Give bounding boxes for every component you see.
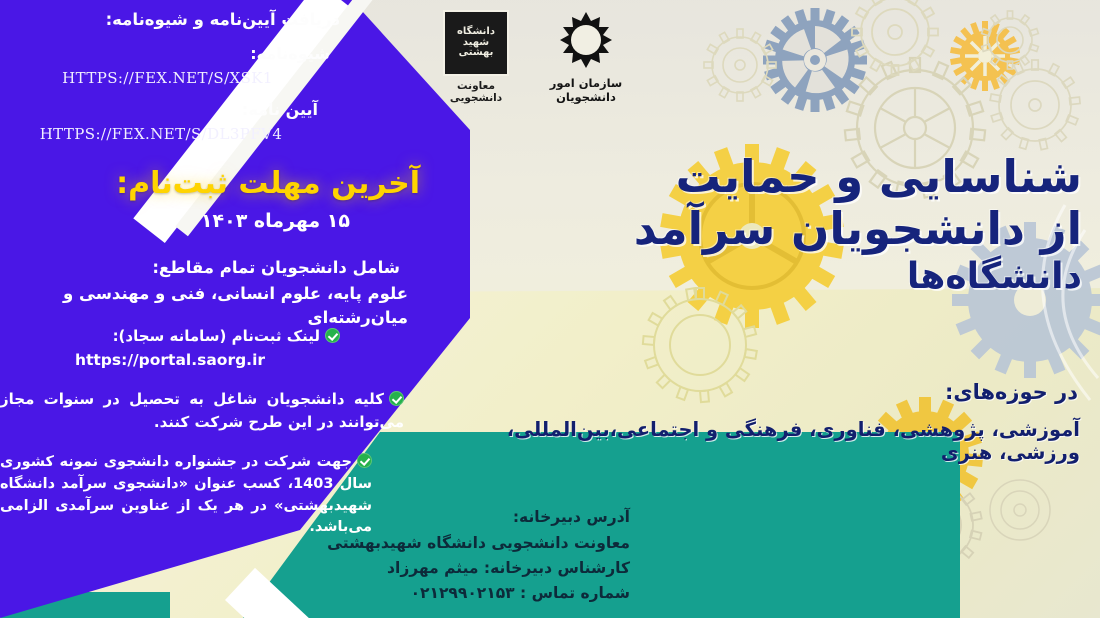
title-line-1: شناسایی و حمایت bbox=[482, 152, 1082, 202]
title-line-3: دانشگاه‌ها bbox=[482, 257, 1082, 297]
download-regulations-header: دریافت آیین‌نامه و شیوه‌نامه: bbox=[0, 8, 340, 32]
shivename-label: شیوه‌نامه: bbox=[0, 42, 330, 65]
poster-main-title: شناسایی و حمایت از دانشجویان سرآمد دانشگ… bbox=[482, 152, 1082, 297]
sbu-emblem-text: دانشگاه شهید بهشتی bbox=[445, 27, 507, 59]
fields-label: در حوزه‌های: bbox=[658, 380, 1078, 404]
shahid-beheshti-university-logo: دانشگاه شهید بهشتی معاونت دانشجویی bbox=[430, 10, 522, 104]
shivename-url-link[interactable]: HTTPS://FEX.NET/S/XSK1 bbox=[0, 68, 335, 90]
bullet-item-eligibility: کلیه دانشجویان شاغل به تحصیل در سنوات مج… bbox=[0, 388, 404, 433]
poster-root: دانشگاه شهید بهشتی معاونت دانشجویی سازما… bbox=[0, 0, 1100, 618]
includes-line-2: علوم پایه، علوم انسانی، فنی و مهندسی و م… bbox=[0, 282, 408, 330]
contact-address: معاونت دانشجویی دانشگاه شهیدبهشتی bbox=[210, 531, 630, 556]
contact-person: کارشناس دبیرخانه: میثم مهرزاد bbox=[210, 556, 630, 581]
sbu-emblem-icon: دانشگاه شهید بهشتی bbox=[443, 10, 509, 76]
org-logo-caption: سازمان امور دانشجویان bbox=[530, 76, 642, 105]
student-affairs-organization-logo: سازمان امور دانشجویان bbox=[530, 8, 642, 105]
registration-portal-link[interactable]: https://portal.saorg.ir bbox=[0, 349, 340, 372]
sbu-logo-caption: معاونت دانشجویی bbox=[430, 80, 522, 104]
deadline-title: آخرین مهلت ثبت‌نام: bbox=[0, 162, 420, 206]
check-circle-icon bbox=[325, 328, 340, 343]
includes-line-1: شامل دانشجویان تمام مقاطع: bbox=[0, 256, 400, 280]
title-line-2: از دانشجویان سرآمد bbox=[482, 204, 1082, 254]
check-circle-icon bbox=[357, 453, 372, 468]
logo-group: دانشگاه شهید بهشتی معاونت دانشجویی سازما… bbox=[430, 6, 645, 110]
bullet-item-registration: لینک ثبت‌نام (سامانه سجاد): https://port… bbox=[0, 325, 340, 372]
deadline-date: ۱۵ مهرماه ۱۴۰۳ bbox=[0, 208, 350, 236]
fields-list: آموزشی، پژوهشی، فناوری، فرهنگی و اجتماعی… bbox=[440, 418, 1080, 464]
check-circle-icon bbox=[389, 391, 404, 406]
bullet-2-text: کلیه دانشجویان شاغل به تحصیل در سنوات مج… bbox=[0, 390, 404, 431]
secretariat-contact-block: آدرس دبیرخانه: معاونت دانشجویی دانشگاه ش… bbox=[210, 505, 630, 606]
contact-title: آدرس دبیرخانه: bbox=[210, 505, 630, 530]
ayinname-url-link[interactable]: HTTPS://FEX.NET/S/DL3PFV4 bbox=[0, 124, 322, 146]
bullet-1-text: لینک ثبت‌نام (سامانه سجاد): bbox=[113, 327, 320, 345]
ayinname-label: آیین نامه: bbox=[0, 98, 318, 121]
star-burst-icon bbox=[553, 8, 619, 70]
contact-phone: شماره تماس : ۰۲۱۲۹۹۰۲۱۵۳ bbox=[210, 581, 630, 606]
